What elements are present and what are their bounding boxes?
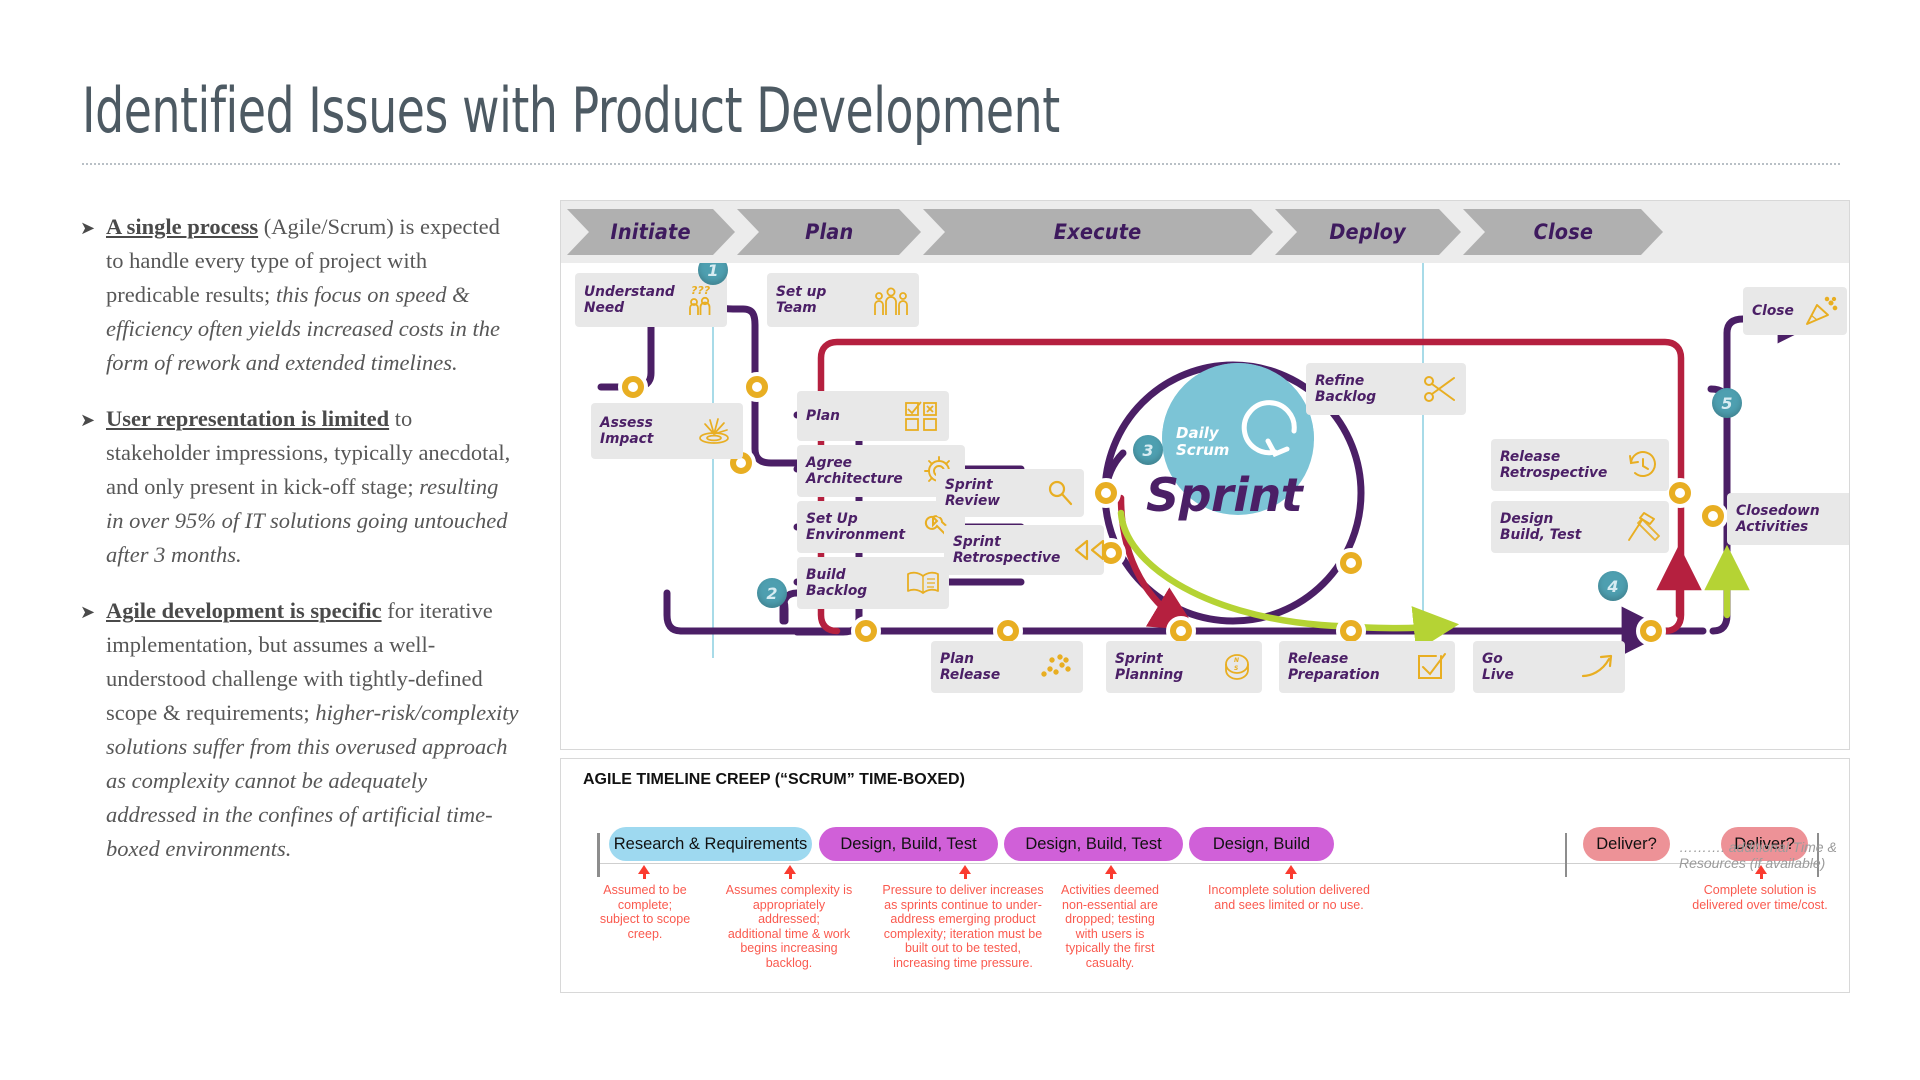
node-plan[interactable]: Plan: [797, 391, 949, 441]
note-arrow-2: [784, 865, 796, 874]
bullet-text: A single process (Agile/Scrum) is expect…: [106, 210, 520, 380]
daily-scrum-label: Daily Scrum: [1176, 425, 1229, 459]
rising-arrow-icon: [1580, 652, 1616, 682]
list-item: ➤ User representation is limited to stak…: [80, 402, 520, 572]
svg-text:N: N: [1234, 657, 1239, 664]
clock-back-icon: [1626, 449, 1660, 481]
people-group-icon: [872, 283, 910, 317]
phase-label: Initiate: [611, 220, 691, 244]
title-divider: [82, 163, 1840, 165]
node-closedown-activities[interactable]: Closedown Activities: [1727, 493, 1849, 545]
page-title: Identified Issues with Product Developme…: [82, 74, 1060, 147]
node-label: Release Preparation: [1288, 651, 1401, 683]
node-release-preparation[interactable]: Release Preparation: [1279, 641, 1455, 693]
scatter-plan-icon: [1038, 652, 1074, 682]
note-arrow-3: [959, 865, 971, 874]
bullet-lead: A single process: [106, 214, 258, 239]
party-popper-icon: [1804, 295, 1838, 327]
pill-label: Design, Build, Test: [1025, 835, 1161, 854]
timeline-divider-mid: [1565, 833, 1567, 877]
step-badge-3: 3: [1133, 435, 1163, 465]
bullet-lead: Agile development is specific: [106, 598, 382, 623]
timeline-title: AGILE TIMELINE CREEP (“SCRUM” TIME-BOXED…: [583, 771, 965, 789]
bullet-lead: User representation is limited: [106, 406, 389, 431]
timeline-note-3: Pressure to deliver increases as sprints…: [873, 883, 1053, 970]
sprint-center-label: Sprint: [1146, 468, 1302, 522]
node-sprint-retrospective[interactable]: Sprint Retrospective: [944, 525, 1104, 575]
step-badge-4: 4: [1598, 571, 1628, 601]
node-plan-release[interactable]: Plan Release: [931, 641, 1083, 693]
bullet-text: Agile development is specific for iterat…: [106, 594, 520, 866]
phase-label: Execute: [1054, 220, 1142, 244]
node-label: Understand Need: [584, 284, 675, 316]
svg-text:S: S: [1234, 665, 1238, 672]
phase-label: Close: [1533, 220, 1593, 244]
node-label: Agree Architecture: [806, 455, 910, 487]
node-go-live[interactable]: Go Live: [1473, 641, 1625, 693]
step-badge-2: 2: [757, 578, 787, 608]
hammer-pencil-icon: [1624, 510, 1660, 544]
step-badge-5: 5: [1712, 388, 1742, 418]
timeline-start-cap: [597, 833, 600, 877]
impact-splash-icon: [694, 414, 734, 448]
node-label: Closedown Activities: [1736, 503, 1843, 535]
node-label: Assess Impact: [600, 415, 683, 447]
node-sprint-planning[interactable]: Sprint Planning N S: [1106, 641, 1262, 693]
node-close[interactable]: Close: [1743, 287, 1847, 335]
check-box-icon: [1414, 652, 1446, 682]
process-flow-diagram: Initiate Plan Execute Deploy Close: [560, 200, 1850, 750]
phase-chevron-plan: Plan: [737, 209, 921, 255]
bullet-text: User representation is limited to stakeh…: [106, 402, 520, 572]
timeline-note-2: Assumes complexity is appropriately addr…: [720, 883, 858, 970]
phase-label: Plan: [805, 220, 853, 244]
node-label: Refine Backlog: [1315, 373, 1411, 405]
pill-label: Design, Build, Test: [840, 835, 976, 854]
node-refine-backlog[interactable]: Refine Backlog: [1306, 363, 1466, 415]
bullet-arrow-icon: ➤: [80, 402, 106, 572]
issues-bullet-list: ➤ A single process (Agile/Scrum) is expe…: [80, 210, 520, 888]
timeline-note-5: Incomplete solution delivered and sees l…: [1173, 883, 1405, 912]
node-design-build-test[interactable]: Design Build, Test: [1491, 501, 1669, 553]
node-label: Set Up Environment: [806, 511, 910, 543]
note-arrow-1: [638, 865, 650, 874]
phase-chevron-deploy: Deploy: [1275, 209, 1461, 255]
phase-label: Deploy: [1330, 220, 1407, 244]
node-release-retrospective[interactable]: Release Retrospective: [1491, 439, 1669, 491]
phase-chevron-execute: Execute: [923, 209, 1273, 255]
pill-label: Research & Requirements: [614, 835, 808, 854]
bullet-arrow-icon: ➤: [80, 594, 106, 866]
phase-chevron-close: Close: [1463, 209, 1663, 255]
agile-timeline-creep-panel: AGILE TIMELINE CREEP (“SCRUM” TIME-BOXED…: [560, 758, 1850, 993]
timeline-pill-design-build[interactable]: Design, Build: [1189, 827, 1334, 861]
phase-chevron-initiate: Initiate: [567, 209, 735, 255]
list-item: ➤ A single process (Agile/Scrum) is expe…: [80, 210, 520, 380]
pill-label: Deliver?: [1596, 835, 1657, 854]
node-sprint-review[interactable]: Sprint Review: [936, 469, 1084, 517]
timeline-axis: [597, 863, 1819, 864]
timeline-pill-research[interactable]: Research & Requirements: [609, 827, 812, 861]
bullet-arrow-icon: ➤: [80, 210, 106, 380]
node-label: Close: [1752, 303, 1795, 319]
node-label: Design Build, Test: [1500, 511, 1611, 543]
timeline-pill-design-build-test-1[interactable]: Design, Build, Test: [819, 827, 998, 861]
node-build-backlog[interactable]: Build Backlog: [797, 557, 949, 609]
open-book-icon: [906, 569, 940, 597]
note-arrow-6: [1755, 865, 1767, 874]
node-label: Sprint Review: [945, 477, 1033, 509]
list-item: ➤ Agile development is specific for iter…: [80, 594, 520, 866]
node-label: Plan Release: [940, 651, 1026, 683]
node-label: Sprint Retrospective: [953, 534, 1060, 566]
node-label: Set up Team: [776, 284, 861, 316]
node-label: Sprint Planning: [1115, 651, 1209, 683]
diagram-canvas: Understand Need ??? Set up Team Asses: [561, 263, 1849, 718]
node-assess-impact[interactable]: Assess Impact: [591, 403, 743, 459]
note-arrow-4: [1105, 865, 1117, 874]
pill-label: Design, Build: [1213, 835, 1310, 854]
rewind-icon: [1073, 538, 1107, 562]
questions-people-icon: ???: [687, 283, 719, 317]
node-label: Go Live: [1482, 651, 1568, 683]
node-label: Build Backlog: [806, 567, 894, 599]
timeline-pill-design-build-test-2[interactable]: Design, Build, Test: [1004, 827, 1183, 861]
note-arrow-5: [1285, 865, 1297, 874]
timeline-pill-deliver-1[interactable]: Deliver?: [1583, 827, 1670, 861]
scissors-icon: [1423, 374, 1457, 404]
node-set-up-team[interactable]: Set up Team: [767, 273, 919, 327]
checklist-grid-icon: [904, 400, 940, 432]
timeline-note-4: Activities deemed non-essential are drop…: [1050, 883, 1170, 970]
timeline-note-1: Assumed to be complete; subject to scope…: [581, 883, 709, 941]
phase-header-band: Initiate Plan Execute Deploy Close: [561, 201, 1849, 263]
magnifier-icon: [1045, 478, 1075, 508]
svg-text:???: ???: [691, 284, 711, 297]
node-label: Plan: [806, 408, 892, 424]
compass-icon: N S: [1221, 651, 1253, 683]
timeline-note-6: Complete solution is delivered over time…: [1666, 883, 1854, 912]
node-label: Release Retrospective: [1500, 449, 1613, 481]
